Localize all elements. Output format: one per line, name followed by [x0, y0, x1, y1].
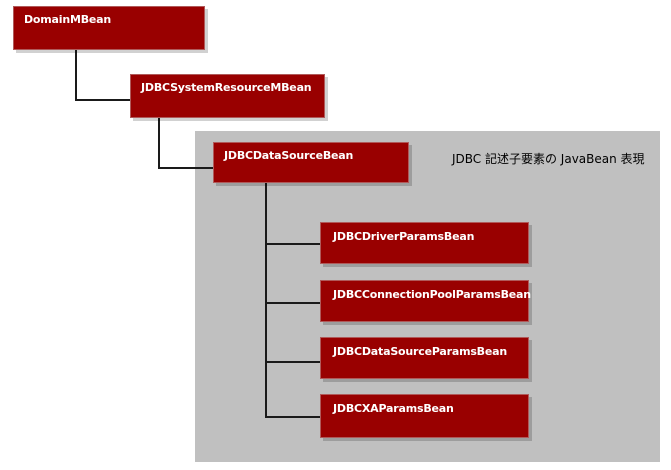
mbean-hierarchy-diagram: JDBC 記述子要素の JavaBean 表現 DomainMBean JDBC…	[0, 0, 671, 470]
connector-domain-to-systemresource-horizontal	[75, 99, 131, 101]
connector-datasource-to-driverparams-horizontal	[265, 243, 321, 245]
node-jdbc-system-resource-mbean-label: JDBCSystemResourceMBean	[141, 81, 311, 94]
connector-domain-to-systemresource-vertical	[75, 49, 77, 101]
node-domain-mbean[interactable]: DomainMBean	[13, 6, 205, 50]
node-jdbc-xa-params-bean[interactable]: JDBCXAParamsBean	[320, 394, 529, 438]
node-jdbc-driver-params-bean-label: JDBCDriverParamsBean	[333, 230, 474, 243]
connector-datasource-to-xaparams-horizontal	[265, 416, 321, 418]
connector-datasource-to-datasourceparams-horizontal	[265, 361, 321, 363]
connector-datasource-trunk-vertical	[265, 182, 267, 418]
node-jdbc-connection-pool-params-bean-label: JDBCConnectionPoolParamsBean	[333, 288, 531, 301]
connector-datasource-to-connectionpoolparams-horizontal	[265, 302, 321, 304]
panel-caption: JDBC 記述子要素の JavaBean 表現	[452, 150, 645, 167]
node-domain-mbean-label: DomainMBean	[24, 13, 111, 26]
node-jdbc-system-resource-mbean[interactable]: JDBCSystemResourceMBean	[130, 74, 325, 118]
node-jdbc-data-source-params-bean-label: JDBCDataSourceParamsBean	[333, 345, 507, 358]
node-jdbc-data-source-params-bean[interactable]: JDBCDataSourceParamsBean	[320, 337, 529, 379]
node-jdbc-connection-pool-params-bean[interactable]: JDBCConnectionPoolParamsBean	[320, 280, 529, 322]
connector-systemresource-to-datasource-horizontal	[158, 167, 214, 169]
node-jdbc-data-source-bean[interactable]: JDBCDataSourceBean	[213, 142, 409, 183]
node-jdbc-driver-params-bean[interactable]: JDBCDriverParamsBean	[320, 222, 529, 264]
connector-systemresource-to-datasource-vertical	[158, 117, 160, 169]
node-jdbc-xa-params-bean-label: JDBCXAParamsBean	[333, 402, 454, 415]
node-jdbc-data-source-bean-label: JDBCDataSourceBean	[224, 149, 353, 162]
